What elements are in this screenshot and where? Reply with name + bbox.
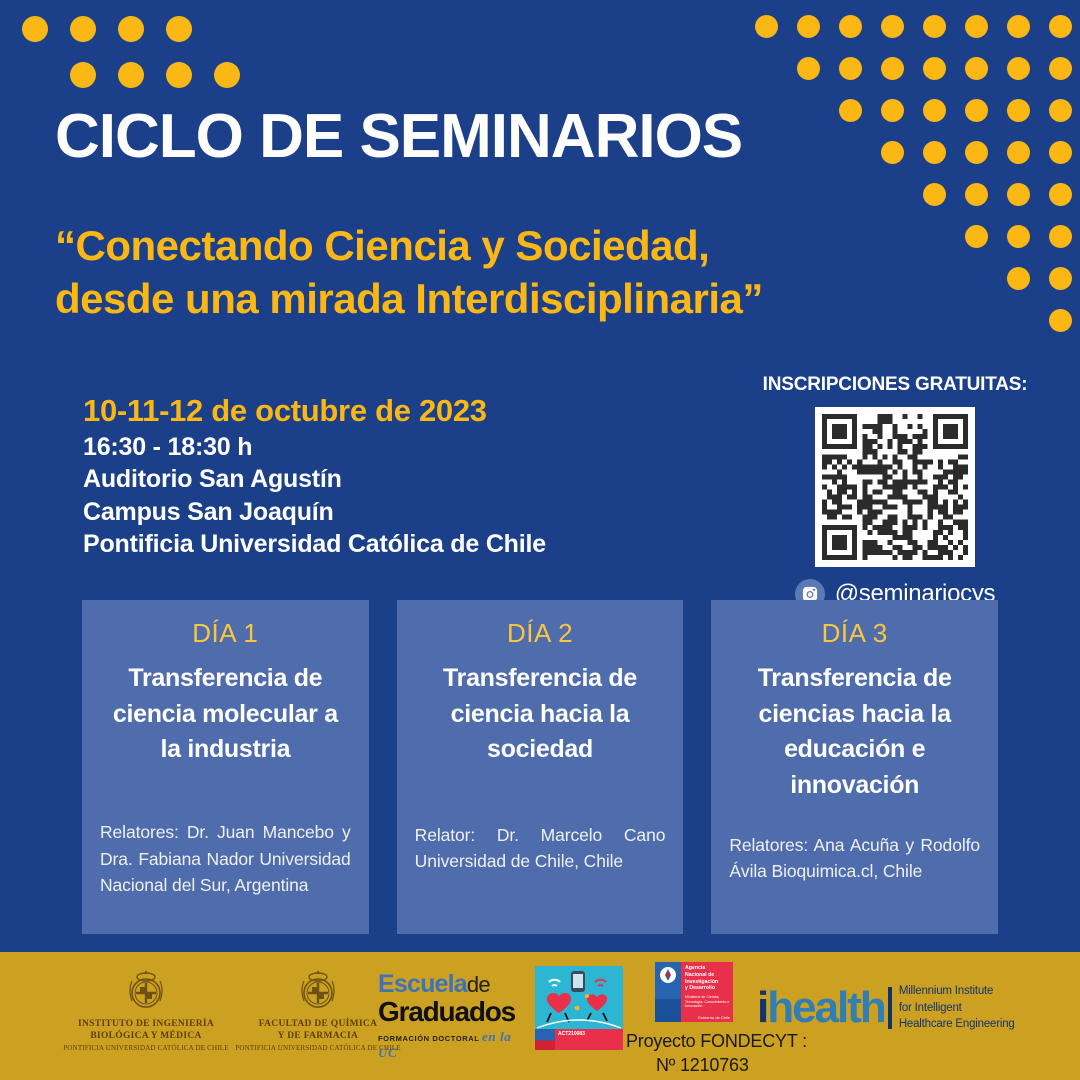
decorative-dot (965, 141, 988, 164)
decorative-dot (755, 15, 778, 38)
event-institution: Pontificia Universidad Católica de Chile (83, 528, 703, 561)
decorative-dot (881, 99, 904, 122)
decorative-dot (965, 225, 988, 248)
decorative-dot (1007, 183, 1030, 206)
seminar-poster: CICLO DE SEMINARIOS “Conectando Ciencia … (0, 0, 1080, 1080)
escuela-tagline: FORMACIÓN DOCTORAL en la UC (378, 1029, 518, 1061)
chile-flag-icon (535, 1029, 555, 1050)
ihealth-wordmark: ihealth (757, 987, 885, 1029)
decorative-dot (70, 62, 96, 88)
anid-text-panel: Agencia Nacional de Investigación y Desa… (681, 962, 733, 1022)
logo-anid: Agencia Nacional de Investigación y Desa… (655, 962, 733, 1022)
anid-flag-panel (655, 962, 681, 1022)
decorative-dot (214, 62, 240, 88)
ihealth-divider (888, 987, 892, 1029)
ihealth-word-i: i (757, 983, 767, 1032)
day-label: DÍA 2 (415, 618, 666, 649)
escuela-word-escuela: Escuela (378, 970, 467, 998)
qr-code[interactable] (815, 407, 975, 567)
logo-line-3: PONTIFICIA UNIVERSIDAD CATÓLICA DE CHILE (46, 1044, 246, 1053)
decorative-dot (118, 16, 144, 42)
act-badge: ACT210083 (535, 1029, 623, 1050)
decorative-dot (1049, 267, 1072, 290)
decorative-dot (1007, 141, 1030, 164)
decorative-dot (1007, 267, 1030, 290)
logo-ihealth: ihealth Millennium Institute for Intelli… (757, 983, 1015, 1033)
headline-block: CICLO DE SEMINARIOS “Conectando Ciencia … (55, 106, 815, 325)
decorative-dot (1007, 57, 1030, 80)
decorative-dot (1049, 309, 1072, 332)
decorative-dot (1049, 99, 1072, 122)
anid-line-2: Nacional de (685, 972, 730, 979)
anid-line-1: Agencia (685, 965, 730, 972)
decorative-dot (1049, 225, 1072, 248)
decorative-dot (923, 183, 946, 206)
decorative-dot (839, 99, 862, 122)
day-card-2: DÍA 2 Transferencia de ciencia hacia la … (397, 600, 684, 934)
day-title: Transferencia de ciencias hacia la educa… (729, 661, 980, 803)
act-code: ACT210083 (558, 1031, 620, 1037)
day-card-3: DÍA 3 Transferencia de ciencias hacia la… (711, 600, 998, 934)
registration-block: INSCRIPCIONES GRATUITAS: @seminariocys (745, 374, 1045, 609)
ihealth-word-health: health (767, 983, 885, 1032)
day-speakers: Relator: Dr. Marcelo Cano Universidad de… (415, 822, 666, 921)
day-speakers: Relatores: Ana Acuña y Rodolfo Ávila Bio… (729, 832, 980, 921)
subtitle-line-2: desde una mirada Interdisciplinaria” (55, 273, 815, 326)
qr-code-canvas[interactable] (822, 414, 968, 560)
decorative-dot (965, 15, 988, 38)
subtitle-line-1: “Conectando Ciencia y Sociedad, (55, 220, 815, 273)
ihealth-tagline-line-1: Millennium Institute (899, 983, 1015, 1000)
logo-instituto-ingenieria: INSTITUTO DE INGENIERÍA BIOLÓGICA Y MÉDI… (46, 968, 246, 1053)
ihealth-tagline: Millennium Institute for Intelligent Hea… (899, 983, 1015, 1033)
uc-crest-icon (124, 968, 168, 1016)
subtitle: “Conectando Ciencia y Sociedad, desde un… (55, 220, 815, 325)
act-badge-text: ACT210083 (555, 1029, 623, 1050)
anid-line-4: y Desarrollo (685, 985, 730, 992)
anid-ministry: Ministerio de Ciencia, Tecnología, Conoc… (685, 995, 730, 1009)
day-title: Transferencia de ciencia hacia la socied… (415, 661, 666, 768)
event-details: 10-11-12 de octubre de 2023 16:30 - 18:3… (83, 392, 703, 561)
day-title: Transferencia de ciencia molecular a la … (100, 661, 351, 768)
uc-crest-icon (296, 968, 340, 1016)
escuela-word-graduados: Graduados (378, 998, 518, 1026)
anid-gov: Gobierno de Chile (685, 1015, 730, 1020)
decorative-dot (881, 57, 904, 80)
registration-label: INSCRIPCIONES GRATUITAS: (745, 374, 1045, 396)
act-hearts-icon (535, 966, 623, 1030)
ihealth-tagline-line-2: for Intelligent (899, 1000, 1015, 1017)
decorative-dot (1049, 15, 1072, 38)
decorative-dot (118, 62, 144, 88)
escuela-line-1: Escuelade (378, 972, 518, 997)
event-date: 10-11-12 de octubre de 2023 (83, 392, 703, 431)
decorative-dot (881, 15, 904, 38)
day-speakers: Relatores: Dr. Juan Mancebo y Dra. Fabia… (100, 819, 351, 920)
logo-line-2: BIOLÓGICA Y MÉDICA (46, 1031, 246, 1043)
anid-crest-icon (659, 966, 677, 984)
decorative-dot (965, 57, 988, 80)
escuela-tagline-text: FORMACIÓN DOCTORAL (378, 1034, 479, 1043)
day-label: DÍA 3 (729, 618, 980, 649)
decorative-dot (1007, 225, 1030, 248)
decorative-dot (70, 16, 96, 42)
decorative-dot (923, 141, 946, 164)
day-cards: DÍA 1 Transferencia de ciencia molecular… (82, 600, 998, 934)
decorative-dot (923, 57, 946, 80)
fondecyt-line-2: Nº 1210763 (656, 1053, 807, 1077)
decorative-dot (1049, 183, 1072, 206)
decorative-dot (22, 16, 48, 42)
fondecyt-line-1: Proyecto FONDECYT : (626, 1029, 807, 1053)
decorative-dot (1007, 15, 1030, 38)
decorative-dot (1007, 99, 1030, 122)
day-card-1: DÍA 1 Transferencia de ciencia molecular… (82, 600, 369, 934)
logo-escuela-graduados: Escuelade Graduados FORMACIÓN DOCTORAL e… (378, 972, 518, 1061)
decorative-dot (797, 57, 820, 80)
decorative-dot (166, 62, 192, 88)
escuela-word-de: de (467, 972, 490, 997)
decorative-dot (839, 15, 862, 38)
decorative-dot (1049, 57, 1072, 80)
page-title: CICLO DE SEMINARIOS (55, 106, 815, 168)
day-label: DÍA 1 (100, 618, 351, 649)
event-time: 16:30 - 18:30 h (83, 431, 703, 464)
decorative-dot (797, 15, 820, 38)
fondecyt-project: Proyecto FONDECYT : Nº 1210763 (626, 1029, 807, 1078)
decorative-dot (923, 99, 946, 122)
logo-line-1: INSTITUTO DE INGENIERÍA (46, 1019, 246, 1031)
decorative-dot (166, 16, 192, 42)
decorative-dot (1049, 141, 1072, 164)
decorative-dot (923, 15, 946, 38)
event-campus: Campus San Joaquín (83, 496, 703, 529)
decorative-dot (965, 99, 988, 122)
decorative-dot (839, 57, 862, 80)
decorative-dot (881, 141, 904, 164)
anid-line-3: Investigación (685, 979, 730, 986)
event-venue: Auditorio San Agustín (83, 463, 703, 496)
logo-act-milenio: ACT210083 (535, 966, 623, 1050)
ihealth-tagline-line-3: Healthcare Engineering (899, 1016, 1015, 1033)
decorative-dot (965, 183, 988, 206)
